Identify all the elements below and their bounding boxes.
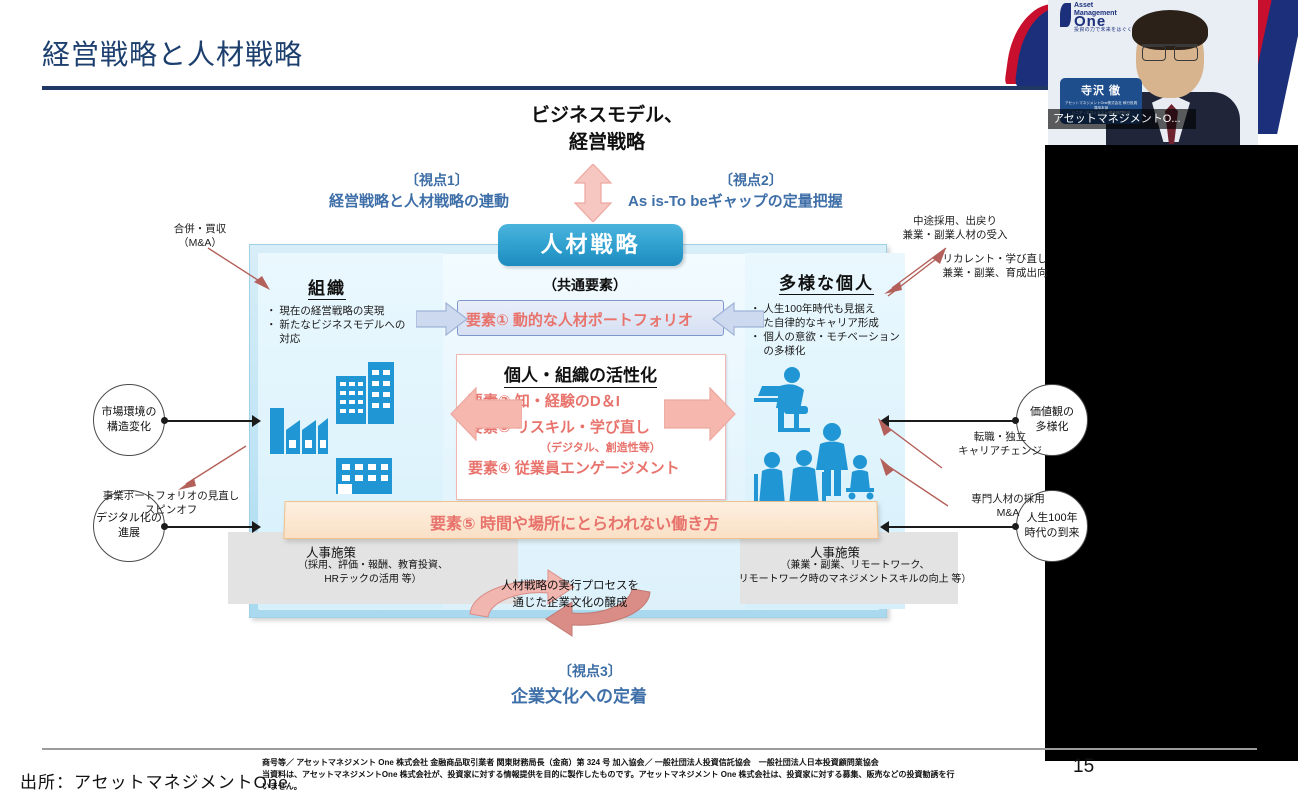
connector-dot-digital [161, 523, 168, 530]
viewpoint2-subtitle: As is-To beギャップの定量把握 [628, 190, 843, 211]
connector-market [165, 420, 255, 422]
element4-text: 要素④ 従業員エンゲージメント [468, 457, 680, 478]
circle-market-change: 市場環境の構造変化 [93, 384, 165, 456]
video-logo-mark-icon [1060, 3, 1071, 27]
annotation-jobchange: 転職・独立キャリアチェンジ [940, 430, 1060, 458]
connector-digital [165, 526, 255, 528]
arrowhead-digital-icon [252, 521, 261, 533]
connector-life100 [888, 526, 1016, 528]
vertical-double-arrow-icon [571, 164, 615, 222]
building-small-icon [334, 448, 396, 496]
pink-arrow-left-icon [450, 386, 522, 442]
annotation-arrow-ma-icon [206, 246, 276, 292]
diverse-individuals-heading: 多様な個人 [779, 269, 874, 295]
arrowhead-life100-icon [880, 521, 889, 533]
disclaimer-line-2: 当資料は、アセットマネジメントOne 株式会社が、投資家に対する情報提供を目的に… [262, 769, 962, 793]
connector-dot-market [161, 417, 168, 424]
annotation-midcareer: 中途採用、出戻り兼業・副業人材の受入 [880, 214, 1030, 242]
connector-dot-life100 [1012, 523, 1019, 530]
viewpoint1-subtitle: 経営戦略と人材戦略の連動 [329, 190, 509, 211]
organization-bullets: ・ 現在の経営戦略の実現・ 新たなビジネスモデルへの 対応 [266, 304, 438, 346]
annotation-arrow-specialist-icon [868, 454, 952, 510]
viewpoint1-title: 〔視点1〕 [405, 170, 469, 190]
disclaimer-line-1: 商号等／ アセットマネジメント One 株式会社 金融商品取引業者 関東財務局長… [262, 757, 962, 769]
element1-text: 要素① 動的な人材ポートフォリオ [466, 309, 693, 330]
diverse-individuals-bullets: ・ 人生100年時代も見据え た自律的なキャリア形成・ 個人の意欲・モチベーショ… [750, 302, 905, 358]
viewpoint3-subtitle: 企業文化への定着 [511, 682, 647, 707]
page-title: 経営戦略と人材戦略 [42, 33, 303, 73]
source-label: 出所：アセットマネジメントOne [20, 768, 289, 793]
common-elements-label: （共通要素） [543, 275, 627, 295]
talent-strategy-pill: 人材戦略 [498, 224, 683, 266]
viewpoint2-title: 〔視点2〕 [719, 170, 783, 190]
slide-canvas: 経営戦略と人材戦略 Ass Mar O Asset Management One… [0, 0, 1298, 803]
video-logo-line1: Asset [1074, 2, 1184, 10]
annotation-specialist: 専門人材の採用M&A [948, 492, 1068, 520]
element5-text: 要素⑤ 時間や場所にとらわれない働き方 [430, 510, 719, 534]
hr-measures-right-sub: （兼業・副業、リモートワーク、リモートワーク時のマネジメントスキルの向上 等） [700, 559, 1010, 587]
annotation-spinoff: 事業ポートフォリオの見直しスピンオフ [96, 489, 246, 517]
connector-dot-values [1012, 417, 1019, 424]
annotation-arrow-recurrent-icon [884, 246, 948, 300]
blue-arrow-left-icon [712, 302, 764, 336]
strategy-diagram: ビジネスモデル、経営戦略 〔視点1〕 経営戦略と人材戦略の連動 〔視点2〕 As… [0, 96, 1140, 736]
pink-arrow-right-icon [664, 386, 736, 442]
annotation-arrow-spinoff-icon [170, 444, 250, 492]
organization-heading: 組織 [308, 274, 346, 300]
business-model-heading: ビジネスモデル、経営戦略 [487, 102, 727, 156]
element3-subtext: （デジタル、創造性等） [540, 439, 661, 455]
viewpoint3-title: 〔視点3〕 [558, 661, 622, 681]
office-buildings-icon [332, 358, 402, 428]
factory-icon [266, 396, 332, 458]
speaker-glasses-icon [1142, 44, 1198, 57]
arrowhead-market-icon [252, 415, 261, 427]
disclaimer: 商号等／ アセットマネジメント One 株式会社 金融商品取引業者 関東財務局長… [262, 757, 962, 793]
footer-divider [42, 748, 1257, 750]
activation-heading: 個人・組織の活性化 [504, 361, 657, 388]
page-number: 15 [1073, 756, 1094, 778]
culture-cycle-text: 人材戦略の実行プロセスを通じた企業文化の醸成 [500, 578, 640, 612]
blue-arrow-right-icon [416, 302, 468, 336]
